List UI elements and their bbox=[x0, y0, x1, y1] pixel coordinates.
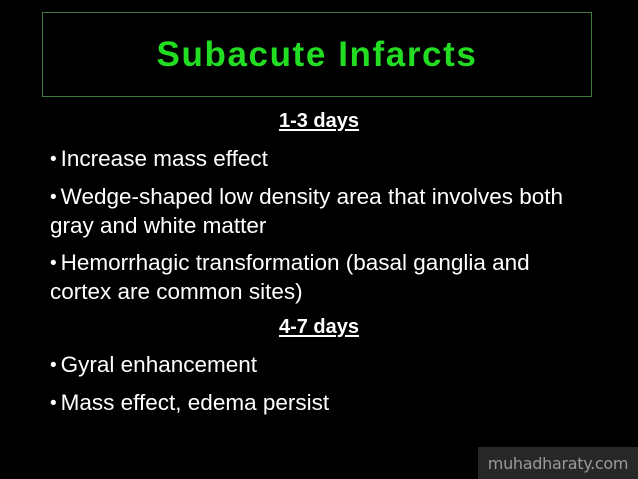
section-heading-2: 4-7 days bbox=[0, 310, 638, 342]
list-item: •Mass effect, edema persist bbox=[0, 380, 638, 418]
section-heading-1: 1-3 days bbox=[0, 104, 638, 136]
section-heading-2-label: 4-7 days bbox=[279, 316, 359, 338]
section-heading-1-label: 1-3 days bbox=[279, 110, 359, 132]
list-item: •Hemorrhagic transformation (basal gangl… bbox=[0, 240, 638, 307]
list-item-text: Wedge-shaped low density area that invol… bbox=[50, 184, 563, 238]
bullet-icon: • bbox=[50, 393, 61, 414]
list-item: •Gyral enhancement bbox=[0, 342, 638, 380]
slide-title-box: Subacute Infarcts bbox=[42, 12, 592, 97]
watermark-text: muhadharaty.com bbox=[488, 454, 628, 473]
bullet-icon: • bbox=[50, 149, 61, 170]
page-title: Subacute Infarcts bbox=[157, 37, 478, 72]
list-item-text: Hemorrhagic transformation (basal gangli… bbox=[50, 250, 530, 304]
bullet-icon: • bbox=[50, 187, 61, 208]
watermark: muhadharaty.com bbox=[478, 447, 638, 479]
list-item-text: Increase mass effect bbox=[61, 146, 268, 171]
list-item: •Wedge-shaped low density area that invo… bbox=[0, 174, 638, 241]
bullet-icon: • bbox=[50, 355, 61, 376]
list-item: •Increase mass effect bbox=[0, 136, 638, 174]
slide-canvas: Subacute Infarcts 1-3 days •Increase mas… bbox=[0, 0, 638, 479]
list-item-text: Mass effect, edema persist bbox=[61, 390, 329, 415]
bullet-icon: • bbox=[50, 253, 61, 274]
list-item-text: Gyral enhancement bbox=[61, 352, 257, 377]
slide-body: 1-3 days •Increase mass effect •Wedge-sh… bbox=[0, 104, 638, 418]
